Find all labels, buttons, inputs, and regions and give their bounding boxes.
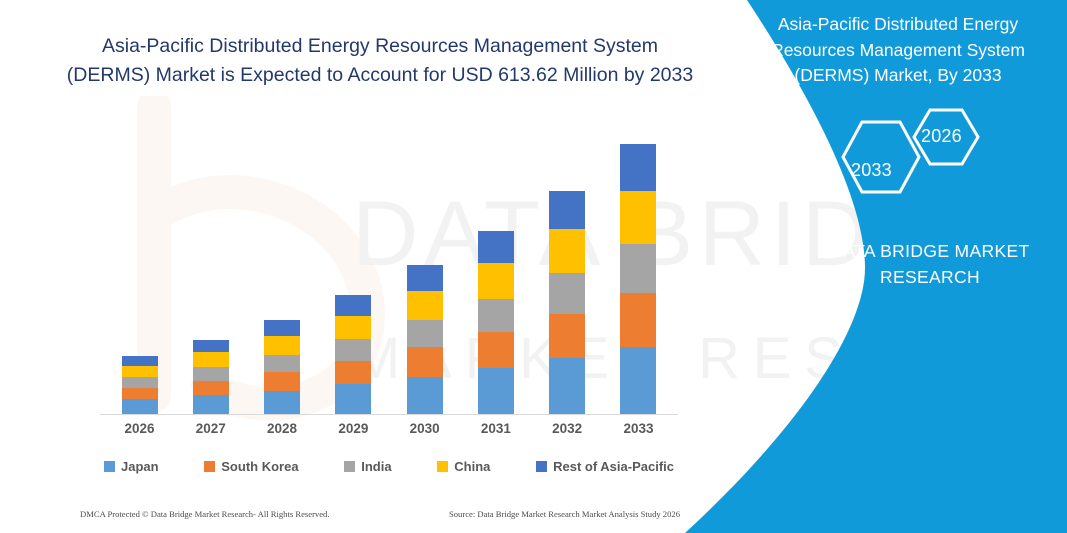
page-title: Asia-Pacific Distributed Energy Resource… <box>60 32 700 90</box>
brand-line-1: DATA BRIDGE MARKET <box>790 238 1067 264</box>
x-axis-label: 2031 <box>460 421 531 443</box>
bar-column <box>175 120 246 414</box>
x-axis-label: 2030 <box>389 421 460 443</box>
bar-segment <box>193 340 229 353</box>
legend-item[interactable]: Rest of Asia-Pacific <box>536 459 674 474</box>
bar-column <box>389 120 460 414</box>
legend-swatch-icon <box>437 461 448 472</box>
bar-segment <box>549 358 585 414</box>
stacked-bar-chart <box>104 120 674 414</box>
footer-copyright: DMCA Protected © Data Bridge Market Rese… <box>80 509 330 519</box>
bar-segment <box>193 352 229 367</box>
x-axis-label: 2032 <box>532 421 603 443</box>
bar-segment <box>407 347 443 377</box>
bar-segment <box>620 347 656 414</box>
infographic-root: DATA BRIDGE MARKET RESEARCH Asia-Pacific… <box>0 0 1067 533</box>
stacked-bar <box>478 231 514 414</box>
bar-segment <box>335 361 371 384</box>
chart-legend: JapanSouth KoreaIndiaChinaRest of Asia-P… <box>104 455 674 477</box>
legend-label: China <box>454 459 490 474</box>
legend-swatch-icon <box>344 461 355 472</box>
bar-column <box>532 120 603 414</box>
bar-column <box>104 120 175 414</box>
bar-segment <box>620 144 656 190</box>
x-axis-label: 2026 <box>104 421 175 443</box>
bar-segment <box>264 372 300 391</box>
bar-segment <box>335 295 371 315</box>
bar-segment <box>122 366 158 378</box>
stacked-bar <box>407 265 443 414</box>
bar-group <box>104 120 674 414</box>
stacked-bar <box>549 191 585 414</box>
bar-segment <box>193 381 229 396</box>
footer: DMCA Protected © Data Bridge Market Rese… <box>80 506 680 522</box>
legend-label: South Korea <box>221 459 298 474</box>
hexagon-2033 <box>843 122 919 192</box>
bar-column <box>247 120 318 414</box>
legend-item[interactable]: China <box>437 459 490 474</box>
stacked-bar <box>620 144 656 414</box>
bar-segment <box>407 377 443 414</box>
bar-segment <box>407 291 443 320</box>
bar-segment <box>478 368 514 414</box>
x-axis-label: 2029 <box>318 421 389 443</box>
bar-segment <box>122 356 158 366</box>
legend-swatch-icon <box>536 461 547 472</box>
bar-segment <box>264 355 300 372</box>
bar-column <box>460 120 531 414</box>
bar-segment <box>549 229 585 273</box>
bar-segment <box>407 265 443 291</box>
bar-segment <box>549 314 585 358</box>
x-axis-labels: 20262027202820292030203120322033 <box>104 421 674 443</box>
x-axis-line <box>100 414 678 415</box>
bar-segment <box>549 191 585 230</box>
bar-segment <box>122 399 158 414</box>
hexagon-2026-label: 2026 <box>921 126 962 147</box>
x-axis-label: 2033 <box>603 421 674 443</box>
brand-name: DATA BRIDGE MARKET RESEARCH <box>790 238 1067 290</box>
bar-segment <box>193 367 229 381</box>
bar-segment <box>264 336 300 355</box>
bar-segment <box>193 395 229 414</box>
legend-label: India <box>361 459 391 474</box>
bar-segment <box>620 293 656 347</box>
bar-segment <box>335 316 371 339</box>
bar-segment <box>335 384 371 414</box>
panel-title: Asia-Pacific Distributed Energy Resource… <box>742 12 1054 89</box>
bar-segment <box>478 299 514 333</box>
brand-line-2: RESEARCH <box>790 264 1067 290</box>
legend-label: Rest of Asia-Pacific <box>553 459 674 474</box>
bar-segment <box>407 320 443 347</box>
bar-segment <box>122 388 158 400</box>
stacked-bar <box>335 295 371 414</box>
bar-segment <box>620 244 656 294</box>
stacked-bar <box>264 320 300 414</box>
bar-column <box>318 120 389 414</box>
legend-label: Japan <box>121 459 159 474</box>
x-axis-label: 2027 <box>175 421 246 443</box>
bar-segment <box>620 191 656 244</box>
footer-source: Source: Data Bridge Market Research Mark… <box>449 509 680 519</box>
legend-swatch-icon <box>104 461 115 472</box>
bar-segment <box>478 263 514 299</box>
legend-item[interactable]: India <box>344 459 391 474</box>
bar-segment <box>264 320 300 336</box>
x-axis-label: 2028 <box>247 421 318 443</box>
bar-segment <box>478 332 514 368</box>
bar-segment <box>549 273 585 314</box>
legend-item[interactable]: South Korea <box>204 459 298 474</box>
hexagon-2033-label: 2033 <box>851 160 892 181</box>
bar-segment <box>478 231 514 262</box>
stacked-bar <box>193 340 229 414</box>
legend-item[interactable]: Japan <box>104 459 159 474</box>
bar-segment <box>122 377 158 388</box>
bar-segment <box>335 339 371 361</box>
stacked-bar <box>122 356 158 414</box>
bar-column <box>603 120 674 414</box>
legend-swatch-icon <box>204 461 215 472</box>
bar-segment <box>264 391 300 414</box>
